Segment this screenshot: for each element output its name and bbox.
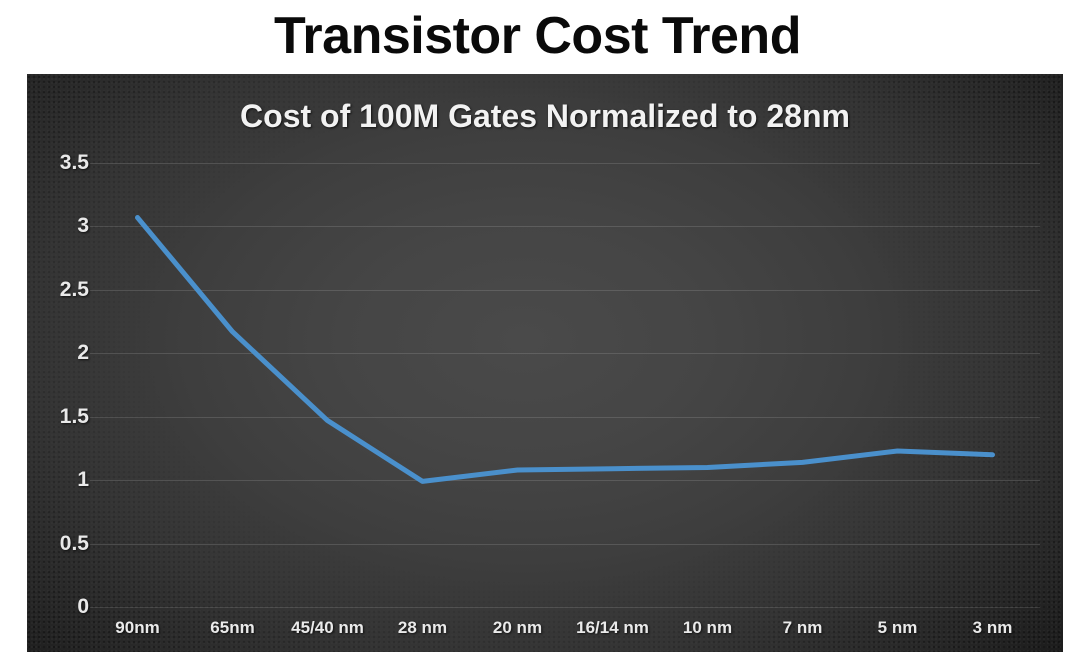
x-axis-tick-label: 90nm	[115, 618, 159, 638]
plot-area	[90, 163, 1040, 607]
x-axis-tick-label: 7 nm	[783, 618, 823, 638]
y-axis-tick-label: 1.5	[35, 405, 89, 429]
y-axis-tick-label: 2.5	[35, 278, 89, 302]
line-series-svg	[90, 163, 1040, 607]
y-axis-tick-label: 3	[35, 214, 89, 238]
x-axis-tick-label: 5 nm	[878, 618, 918, 638]
y-axis-tick-label: 2	[35, 341, 89, 365]
series-line-cost	[138, 218, 993, 482]
x-axis-tick-label: 65nm	[210, 618, 254, 638]
x-axis-tick-label: 10 nm	[683, 618, 732, 638]
slide-root: Transistor Cost Trend Cost of 100M Gates…	[0, 0, 1075, 652]
x-axis-tick-labels: 90nm65nm45/40 nm28 nm20 nm16/14 nm10 nm7…	[90, 618, 1040, 652]
y-axis-tick-label: 3.5	[35, 151, 89, 175]
chart-panel: Cost of 100M Gates Normalized to 28nm 00…	[27, 74, 1063, 652]
y-axis-tick-label: 1	[35, 468, 89, 492]
chart-title: Cost of 100M Gates Normalized to 28nm	[27, 98, 1063, 135]
x-axis-tick-label: 20 nm	[493, 618, 542, 638]
page-title: Transistor Cost Trend	[0, 2, 1075, 70]
gridline	[90, 607, 1040, 608]
x-axis-tick-label: 16/14 nm	[576, 618, 649, 638]
x-axis-tick-label: 45/40 nm	[291, 618, 364, 638]
x-axis-tick-label: 28 nm	[398, 618, 447, 638]
y-axis-tick-labels: 00.511.522.533.5	[27, 163, 89, 607]
x-axis-tick-label: 3 nm	[973, 618, 1013, 638]
y-axis-tick-label: 0.5	[35, 532, 89, 556]
y-axis-tick-label: 0	[35, 595, 89, 619]
